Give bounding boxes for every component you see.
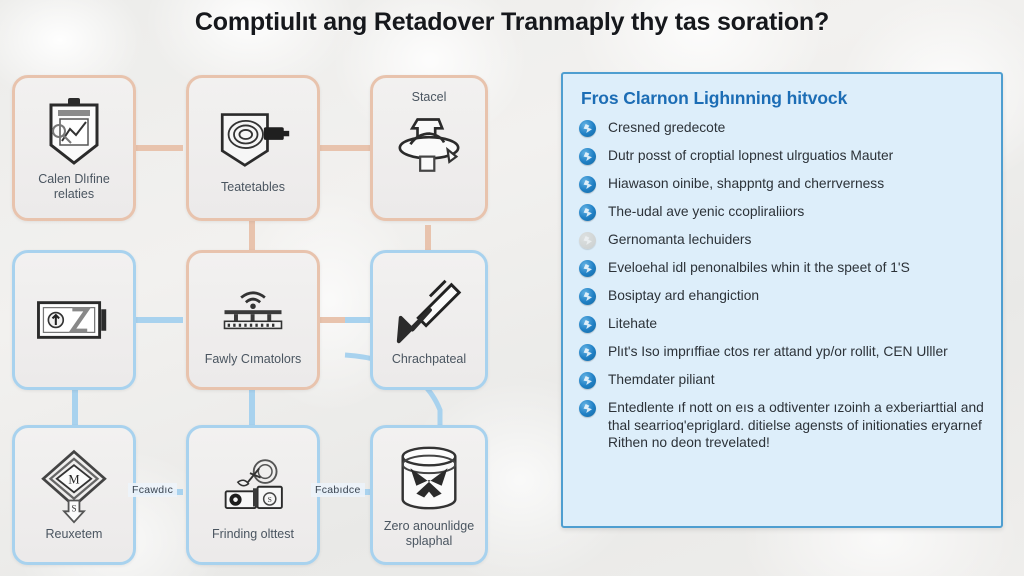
list-item-label: The-udal ave yenic ccopliraliiors	[608, 203, 804, 221]
arrow-circle-icon	[579, 344, 596, 361]
diagram-card-zero-anounlidge[interactable]: Zero anounlidge splaphal	[370, 425, 488, 565]
list-item-label: Eveloehal idl penonalbiles whin it the s…	[608, 259, 910, 277]
diagram-card-label: Frinding olttest	[212, 527, 294, 542]
diagram-card-fawly-cimatolors[interactable]: Fawly Cımatolors	[186, 250, 320, 390]
info-panel: Fros Clarnon Lighınning hitvock Cresned …	[561, 72, 1003, 528]
list-item[interactable]: The-udal ave yenic ccopliraliiors	[577, 203, 987, 221]
list-item[interactable]: Hiawason oinibe, shappntg and cherrverne…	[577, 175, 987, 193]
wifi-server-icon	[215, 274, 291, 348]
list-item-label: Plıt's Iso imprıffiae ctos rer attand yp…	[608, 343, 948, 361]
arrow-circle-icon	[579, 316, 596, 333]
list-item-label: Dutr posst of croptial lopnest ulrguatio…	[608, 147, 893, 165]
panel-header: Fros Clarnon Lighınning hitvock	[581, 88, 987, 109]
connector-label-right: Fcabıdce	[311, 483, 365, 497]
diagram-card-label: Zero anounlidge splaphal	[377, 519, 481, 549]
shield-coil-icon	[215, 102, 291, 176]
list-item[interactable]: Dutr posst of croptial lopnest ulrguatio…	[577, 147, 987, 165]
clipboard-chart-icon	[36, 94, 112, 168]
svg-text:S: S	[71, 503, 76, 513]
diagram-card-label: Reuxetem	[46, 527, 103, 542]
saucer-device-icon	[391, 109, 467, 183]
down-left-arrow-icon	[391, 274, 467, 348]
arrow-circle-icon	[579, 204, 596, 221]
list-item[interactable]: Entedlente ıf nott on eıs a odtiventer ı…	[577, 399, 987, 452]
diagram-card-label: Teatetables	[221, 180, 285, 195]
infographic-canvas: Comptiulıt ang Retadover Tranmaply thy t…	[0, 0, 1024, 576]
connector-label-left: Fcawdıc	[128, 483, 177, 497]
list-item[interactable]: Eveloehal idl penonalbiles whin it the s…	[577, 259, 987, 277]
diagram-card-calen-dlifine[interactable]: Calen Dlıfine relaties	[12, 75, 136, 221]
arrow-circle-icon	[579, 260, 596, 277]
arrow-circle-icon	[579, 372, 596, 389]
diagram-card-reuxetem[interactable]: M S Reuxetem	[12, 425, 136, 565]
list-item-label: Bosiptay ard ehangiction	[608, 287, 759, 305]
diagram-card-teatetables[interactable]: Teatetables	[186, 75, 320, 221]
diagram-card-label: Stacel	[412, 90, 447, 105]
list-item-label: Litehate	[608, 315, 657, 333]
list-item[interactable]: Litehate	[577, 315, 987, 333]
list-item[interactable]: Plıt's Iso imprıffiae ctos rer attand yp…	[577, 343, 987, 361]
diagram-card-frinding-olttest[interactable]: S Frinding olttest	[186, 425, 320, 565]
list-item-label: Themdater piliant	[608, 371, 715, 389]
banknote-icon	[36, 283, 112, 357]
arrow-circle-icon	[579, 120, 596, 137]
list-item[interactable]: Cresned gredecote	[577, 119, 987, 137]
arrow-circle-icon	[579, 232, 596, 249]
arrow-circle-icon	[579, 176, 596, 193]
diagram-card-label: Fawly Cımatolors	[205, 352, 302, 367]
satellite-camera-icon: S	[215, 449, 291, 523]
arrow-circle-icon	[579, 288, 596, 305]
panel-list: Cresned gredecote Dutr posst of croptial…	[577, 119, 987, 452]
svg-text:S: S	[268, 494, 272, 503]
diagram-card-banknote[interactable]	[12, 250, 136, 390]
list-item-label: Cresned gredecote	[608, 119, 725, 137]
cylinder-x-icon	[391, 441, 467, 515]
diagram-card-stacel[interactable]: Stacel	[370, 75, 488, 221]
list-item-label: Entedlente ıf nott on eıs a odtiventer ı…	[608, 399, 987, 452]
list-item[interactable]: Gernomanta lechuiders	[577, 231, 987, 249]
list-item[interactable]: Themdater piliant	[577, 371, 987, 389]
diagram-card-label: Chrachpateal	[392, 352, 466, 367]
info-circle-icon	[579, 400, 596, 417]
diagram-card-label: Calen Dlıfine relaties	[19, 172, 129, 202]
list-item[interactable]: Bosiptay ard ehangiction	[577, 287, 987, 305]
diamond-m-icon: M S	[36, 449, 112, 523]
arrow-circle-icon	[579, 148, 596, 165]
list-item-label: Hiawason oinibe, shappntg and cherrverne…	[608, 175, 884, 193]
list-item-label: Gernomanta lechuiders	[608, 231, 751, 249]
diagram-card-chrachpateal[interactable]: Chrachpateal	[370, 250, 488, 390]
svg-text:M: M	[68, 472, 79, 486]
